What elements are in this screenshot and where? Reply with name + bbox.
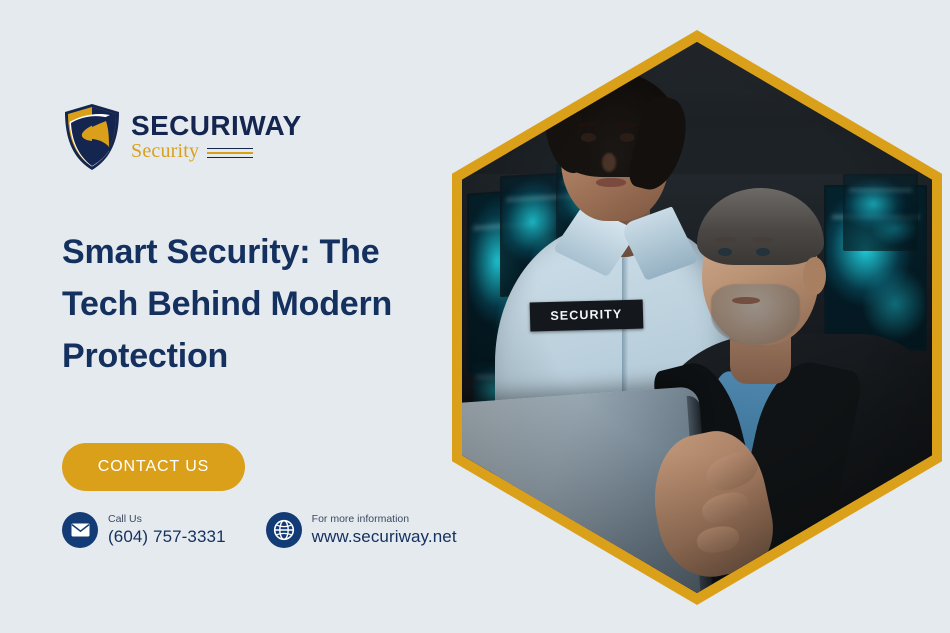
contact-item-phone[interactable]: Call Us (604) 757-3331 bbox=[62, 512, 226, 548]
hero-image-hexagon: SECURITY SECURITY bbox=[452, 30, 942, 605]
female-guard-security-patch: SECURITY bbox=[530, 299, 644, 331]
control-room-photo: SECURITY SECURITY bbox=[462, 42, 932, 593]
brand-wordmark: SECURIWAY Security bbox=[131, 112, 302, 163]
female-patch-text: SECURITY bbox=[550, 307, 622, 323]
envelope-icon bbox=[62, 512, 98, 548]
logo-rule-lines bbox=[207, 146, 253, 159]
brand-name: SECURIWAY bbox=[131, 112, 302, 141]
contact-item-website[interactable]: For more information www.securiway.net bbox=[266, 512, 457, 548]
phone-label: Call Us bbox=[108, 514, 226, 525]
promotional-banner: SECURIWAY Security Smart Security: The T… bbox=[0, 0, 950, 633]
brand-tagline: Security bbox=[131, 141, 199, 162]
page-title: Smart Security: The Tech Behind Modern P… bbox=[62, 226, 462, 382]
contact-info-row: Call Us (604) 757-3331 For more informat… bbox=[62, 512, 457, 548]
surveillance-monitor bbox=[843, 174, 918, 251]
shield-logo-icon bbox=[62, 102, 122, 172]
phone-number: (604) 757-3331 bbox=[108, 528, 226, 546]
brand-logo[interactable]: SECURIWAY Security bbox=[62, 102, 302, 172]
globe-icon bbox=[266, 512, 302, 548]
website-url: www.securiway.net bbox=[312, 528, 457, 546]
hexagon-photo-clip: SECURITY SECURITY bbox=[462, 42, 932, 593]
website-label: For more information bbox=[312, 514, 457, 525]
contact-us-button[interactable]: CONTACT US bbox=[62, 443, 245, 491]
